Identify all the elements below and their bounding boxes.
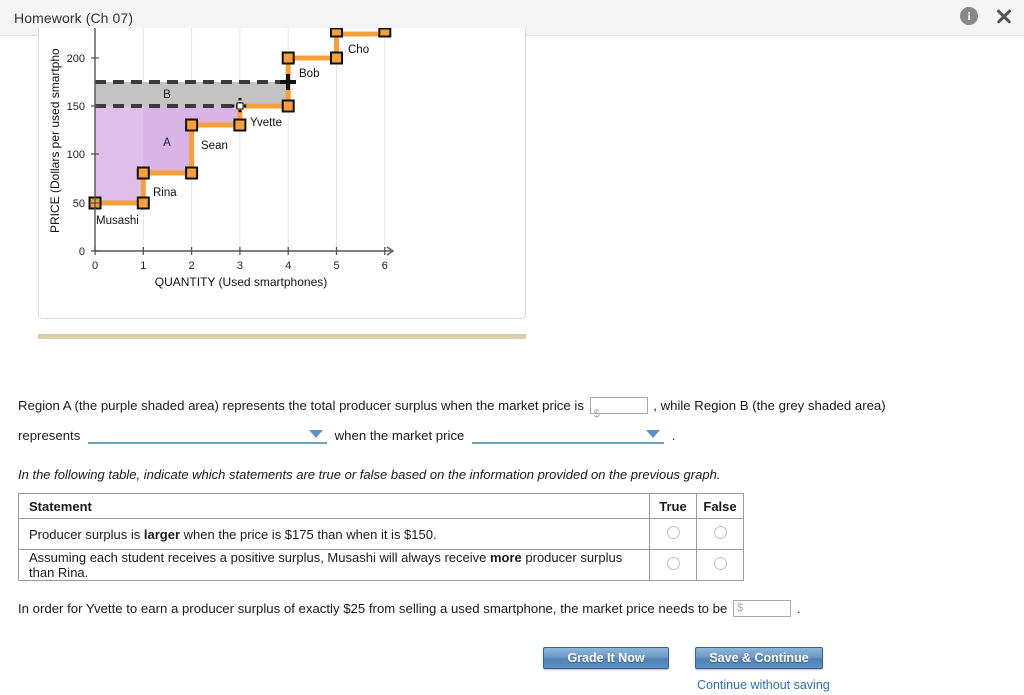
- radio-true-row-1[interactable]: [667, 526, 680, 539]
- radio-cell-true[interactable]: [650, 550, 697, 581]
- svg-text:100: 100: [67, 149, 85, 161]
- svg-text:3: 3: [237, 260, 243, 272]
- table-instruction: In the following table, indicate which s…: [18, 467, 720, 482]
- marker-sean-right: [234, 120, 245, 131]
- chart-y-axis-title: PRICE (Dollars per used smartpho: [48, 48, 62, 233]
- marker-cho-left: [331, 29, 342, 37]
- market-price-condition-dropdown[interactable]: [472, 425, 664, 444]
- statement-cell: Producer surplus is larger when the pric…: [19, 519, 650, 550]
- question-1-line-2: represents when the market price .: [18, 421, 998, 451]
- marker-bob-right: [331, 53, 342, 64]
- radio-true-row-2[interactable]: [667, 557, 680, 570]
- svg-text:2: 2: [189, 260, 195, 272]
- svg-text:6: 6: [382, 260, 388, 272]
- radio-cell-true[interactable]: [650, 519, 697, 550]
- table-row: Assuming each student receives a positiv…: [19, 550, 744, 581]
- svg-text:0: 0: [92, 260, 98, 272]
- statement-text-bold: more: [490, 550, 522, 565]
- save-and-continue-button[interactable]: Save & Continue: [695, 647, 823, 669]
- chevron-down-icon: [646, 430, 660, 438]
- region-b-label: B: [163, 89, 171, 101]
- close-icon[interactable]: [994, 6, 1014, 26]
- question-1: Region A (the purple shaded area) repres…: [18, 391, 998, 451]
- marker-sean-left: [186, 120, 197, 131]
- grade-it-now-button[interactable]: Grade It Now: [543, 647, 669, 669]
- radio-false-row-1[interactable]: [714, 526, 727, 539]
- info-icon[interactable]: i: [960, 7, 978, 25]
- marker-rina-left: [138, 168, 149, 179]
- chevron-down-icon: [309, 430, 323, 438]
- table-row: Producer surplus is larger when the pric…: [19, 519, 744, 550]
- dollar-prefix: $: [737, 602, 743, 614]
- svg-text:5: 5: [333, 260, 339, 272]
- marker-rina-right: [186, 168, 197, 179]
- true-false-table: Statement True False Producer surplus is…: [18, 493, 744, 581]
- question-1-text-e: .: [672, 428, 676, 443]
- region-a-price-input[interactable]: $: [590, 397, 648, 414]
- label-sean: Sean: [201, 140, 228, 152]
- question-2: In order for Yvette to earn a producer s…: [18, 600, 800, 617]
- svg-text:4: 4: [285, 260, 291, 272]
- column-header-statement: Statement: [19, 494, 650, 519]
- radio-cell-false[interactable]: [697, 519, 744, 550]
- question-1-text-c: represents: [18, 428, 80, 443]
- svg-text:150: 150: [67, 101, 85, 113]
- statement-text-pre: Assuming each student receives a positiv…: [29, 550, 490, 565]
- title-bar-actions: i: [960, 6, 1014, 26]
- label-rina: Rina: [153, 187, 177, 199]
- statement-text-pre: Producer surplus is: [29, 527, 144, 542]
- svg-text:0: 0: [79, 246, 85, 258]
- label-yvette: Yvette: [250, 117, 282, 129]
- radio-cell-false[interactable]: [697, 550, 744, 581]
- region-a-label: A: [163, 137, 171, 149]
- svg-text:200: 200: [67, 53, 85, 65]
- label-musashi: Musashi: [96, 215, 139, 227]
- label-cho: Cho: [348, 44, 369, 56]
- svg-text:50: 50: [73, 198, 85, 210]
- continue-without-saving-link[interactable]: Continue without saving: [697, 678, 830, 692]
- radio-false-row-2[interactable]: [714, 557, 727, 570]
- question-1-text-b: , while Region B (the grey shaded area): [653, 398, 885, 413]
- chart-panel: B A Musashi Rina Sean Yvette Bob Cho: [38, 28, 526, 319]
- question-1-line-1: Region A (the purple shaded area) repres…: [18, 391, 998, 421]
- svg-text:1: 1: [140, 260, 146, 272]
- column-header-true: True: [650, 494, 697, 519]
- region-b-shading: [95, 82, 288, 106]
- marker-yvette-right: [283, 101, 294, 112]
- marker-musashi-right: [138, 198, 149, 209]
- statement-cell: Assuming each student receives a positiv…: [19, 550, 650, 581]
- statement-text-post: when the price is $175 than when it is $…: [180, 527, 437, 542]
- page-title: Homework (Ch 07): [14, 10, 133, 26]
- producer-surplus-step-chart: B A Musashi Rina Sean Yvette Bob Cho: [39, 28, 526, 319]
- column-header-false: False: [697, 494, 744, 519]
- section-divider: [38, 334, 526, 339]
- statement-text-bold: larger: [144, 527, 180, 542]
- region-b-meaning-dropdown[interactable]: [88, 425, 327, 444]
- label-bob: Bob: [299, 68, 319, 80]
- marker-bob-left: [283, 53, 294, 64]
- chart-x-axis-title: QUANTITY (Used smartphones): [155, 275, 328, 289]
- question-2-text-a: In order for Yvette to earn a producer s…: [18, 601, 727, 616]
- marker-cho-right: [379, 29, 390, 37]
- yvette-price-input[interactable]: $: [733, 600, 791, 617]
- table-header-row: Statement True False: [19, 494, 744, 519]
- question-1-text-d: when the market price: [335, 428, 465, 443]
- question-2-text-b: .: [797, 601, 801, 616]
- question-1-text-a: Region A (the purple shaded area) repres…: [18, 398, 584, 413]
